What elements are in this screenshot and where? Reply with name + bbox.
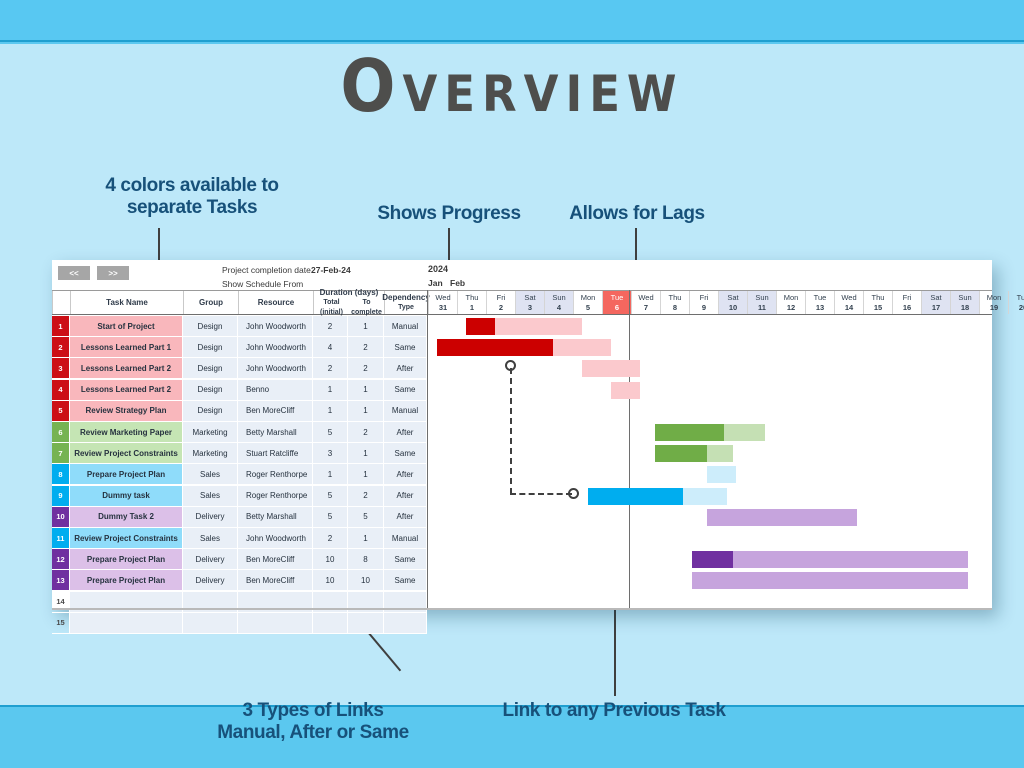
row-dependency-cell[interactable]: Same — [384, 570, 427, 591]
table-row[interactable]: 9Dummy taskSalesRoger Renthorpe52After — [52, 486, 992, 507]
row-resource-cell[interactable]: Stuart Ratcliffe — [238, 443, 313, 464]
date-header-dow: Tue — [1017, 293, 1024, 303]
date-header-cell: Fri9 — [689, 291, 718, 314]
date-header-cell: Tue6 — [602, 291, 631, 314]
row-dependency-cell[interactable]: Manual — [384, 528, 427, 549]
date-header-cell: Wed14 — [834, 291, 863, 314]
row-dependency-cell[interactable]: Same — [384, 443, 427, 464]
nav-prev-button[interactable]: << — [58, 266, 90, 280]
date-header-cell: Sat3 — [515, 291, 544, 314]
date-header-cell: Mon5 — [573, 291, 602, 314]
row-duration-total-cell[interactable]: 1 — [313, 380, 348, 401]
date-header-dow: Fri — [903, 293, 912, 303]
date-header-dow: Thu — [669, 293, 682, 303]
row-dependency-cell[interactable]: Same — [384, 337, 427, 358]
row-task-name-cell[interactable] — [70, 613, 183, 634]
column-header-duration-tocomplete: To complete — [349, 298, 384, 318]
date-header-cell: Tue13 — [805, 291, 834, 314]
row-dependency-cell[interactable]: Manual — [384, 401, 427, 422]
table-row[interactable]: 15 — [52, 613, 992, 634]
column-header-duration-total: Total (initial) — [314, 298, 349, 318]
row-duration-total-cell[interactable]: 10 — [313, 570, 348, 591]
row-id-cell[interactable]: 3 — [52, 358, 70, 379]
row-id-cell[interactable]: 15 — [52, 613, 70, 634]
date-header-daynum: 17 — [932, 303, 940, 313]
date-header-cell: Sun18 — [950, 291, 979, 314]
date-header-daynum: 14 — [845, 303, 853, 313]
row-resource-cell[interactable]: Roger Renthorpe — [238, 464, 313, 485]
annotation-links: 3 Types of Links Manual, After or Same — [182, 700, 444, 744]
row-duration-tocomplete-cell[interactable]: 10 — [348, 570, 384, 591]
row-id-cell[interactable]: 11 — [52, 528, 70, 549]
gantt-bar[interactable] — [437, 339, 611, 356]
row-group-cell[interactable]: Marketing — [183, 443, 238, 464]
date-header-dow: Sun — [755, 293, 768, 303]
row-dependency-cell[interactable]: After — [384, 422, 427, 443]
column-header-dependency[interactable]: Dependency Type — [384, 291, 427, 314]
gantt-divider-today — [629, 290, 630, 610]
show-schedule-from-label: Show Schedule From — [222, 279, 303, 289]
row-resource-cell[interactable]: John Woodworth — [238, 337, 313, 358]
date-header-cell: Tue20 — [1008, 291, 1024, 314]
date-header-dow: Wed — [638, 293, 653, 303]
gantt-bar-remaining — [724, 424, 765, 441]
row-id-cell[interactable]: 1 — [52, 316, 70, 337]
date-header-daynum: 2 — [499, 303, 503, 313]
gantt-bar-progress — [655, 424, 725, 441]
date-header-daynum: 15 — [874, 303, 882, 313]
row-resource-cell[interactable]: Betty Marshall — [238, 422, 313, 443]
row-id-cell[interactable]: 12 — [52, 549, 70, 570]
date-header-dow: Wed — [435, 293, 450, 303]
row-duration-total-cell[interactable]: 2 — [313, 528, 348, 549]
row-duration-total-cell[interactable]: 10 — [313, 549, 348, 570]
row-duration-tocomplete-cell[interactable]: 2 — [348, 486, 384, 507]
date-header-cell: Thu1 — [457, 291, 486, 314]
month-label-feb: Feb — [450, 278, 465, 288]
row-group-cell[interactable] — [183, 613, 238, 634]
table-row[interactable]: 3Lessons Learned Part 2DesignJohn Woodwo… — [52, 358, 992, 379]
date-header-daynum: 4 — [557, 303, 561, 313]
row-dependency-cell[interactable]: After — [384, 486, 427, 507]
row-duration-tocomplete-cell[interactable]: 8 — [348, 549, 384, 570]
gantt-bar[interactable] — [692, 551, 967, 568]
date-header-dow: Sat — [727, 293, 738, 303]
date-header-dow: Thu — [466, 293, 479, 303]
row-id-cell[interactable]: 10 — [52, 507, 70, 528]
row-id-cell[interactable]: 13 — [52, 570, 70, 591]
date-header-dow: Tue — [814, 293, 827, 303]
date-header-dow: Fri — [497, 293, 506, 303]
date-header-dow: Sun — [552, 293, 565, 303]
gantt-bar-remaining — [582, 360, 640, 377]
date-header-cell: Thu8 — [660, 291, 689, 314]
year-label: 2024 — [428, 264, 448, 274]
table-row[interactable]: 11Review Project ConstraintsSalesJohn Wo… — [52, 528, 992, 549]
table-row[interactable]: 5Review Strategy PlanDesignBen MoreCliff… — [52, 401, 992, 422]
date-header-dow: Sun — [958, 293, 971, 303]
row-duration-tocomplete-cell[interactable] — [348, 613, 384, 634]
row-duration-total-cell[interactable]: 5 — [313, 507, 348, 528]
column-header-duration[interactable]: Duration (days) Total (initial) To compl… — [313, 291, 384, 314]
row-resource-cell[interactable]: Ben MoreCliff — [238, 570, 313, 591]
date-header-dow: Tue — [611, 293, 624, 303]
date-header-cell: Sat10 — [718, 291, 747, 314]
date-header-dow: Mon — [784, 293, 799, 303]
date-header-daynum: 20 — [1019, 303, 1024, 313]
date-header-daynum: 10 — [729, 303, 737, 313]
gantt-divider-left — [427, 290, 428, 610]
gantt-bar[interactable] — [707, 466, 736, 483]
gantt-bar[interactable] — [692, 572, 968, 589]
row-duration-total-cell[interactable]: 1 — [313, 401, 348, 422]
table-row[interactable]: 7Review Project ConstraintsMarketingStua… — [52, 443, 992, 464]
table-row[interactable]: 6Review Marketing PaperMarketingBetty Ma… — [52, 422, 992, 443]
column-header-dependency-title: Dependency — [382, 293, 430, 303]
row-group-cell[interactable]: Delivery — [183, 570, 238, 591]
date-header-daynum: 1 — [470, 303, 474, 313]
gantt-bar[interactable] — [707, 509, 858, 526]
row-duration-tocomplete-cell[interactable]: 2 — [348, 358, 384, 379]
link-line-horizontal — [510, 493, 572, 495]
date-header-cell: Wed31 — [428, 291, 457, 314]
row-task-name-cell[interactable]: Lessons Learned Part 2 — [70, 358, 183, 379]
date-header-daynum: 31 — [439, 303, 447, 313]
row-dependency-cell[interactable]: After — [384, 358, 427, 379]
row-dependency-cell[interactable] — [384, 613, 427, 634]
link-line-vertical — [510, 368, 512, 494]
row-task-name-cell[interactable]: Lessons Learned Part 1 — [70, 337, 183, 358]
row-resource-cell[interactable]: John Woodworth — [238, 528, 313, 549]
completion-date-value[interactable]: 27-Feb-24 — [311, 265, 351, 275]
row-resource-cell[interactable]: John Woodworth — [238, 358, 313, 379]
column-header-id — [52, 291, 70, 314]
gantt-bar-remaining — [611, 382, 640, 399]
row-resource-cell[interactable] — [238, 613, 313, 634]
row-group-cell[interactable]: Sales — [183, 464, 238, 485]
gantt-bar-remaining — [733, 551, 968, 568]
column-header-task[interactable]: Task Name — [70, 291, 183, 314]
date-header-cell: Fri2 — [486, 291, 515, 314]
gantt-bar[interactable] — [582, 360, 640, 377]
date-header-daynum: 9 — [702, 303, 706, 313]
date-header-daynum: 19 — [990, 303, 998, 313]
row-task-name-cell[interactable]: Start of Project — [70, 316, 183, 337]
date-header-daynum: 11 — [758, 303, 766, 313]
date-header-cell: Wed7 — [631, 291, 660, 314]
row-resource-cell[interactable]: Roger Renthorpe — [238, 486, 313, 507]
date-header-daynum: 3 — [528, 303, 532, 313]
row-duration-total-cell[interactable] — [313, 613, 348, 634]
date-header-daynum: 6 — [615, 303, 619, 313]
date-header-daynum: 13 — [816, 303, 824, 313]
row-task-name-cell[interactable]: Review Strategy Plan — [70, 401, 183, 422]
row-dependency-cell[interactable]: Same — [384, 380, 427, 401]
nav-next-button[interactable]: >> — [97, 266, 129, 280]
row-resource-cell[interactable]: Benno — [238, 380, 313, 401]
date-header-daynum: 12 — [787, 303, 795, 313]
table-row[interactable]: 8Prepare Project PlanSalesRoger Renthorp… — [52, 464, 992, 485]
gantt-bar-progress — [466, 318, 495, 335]
row-duration-tocomplete-cell[interactable]: 5 — [348, 507, 384, 528]
gantt-bar-remaining — [495, 318, 582, 335]
gantt-bar[interactable] — [588, 488, 727, 505]
gantt-bar[interactable] — [655, 445, 733, 462]
row-duration-tocomplete-cell[interactable]: 2 — [348, 422, 384, 443]
row-id-cell[interactable]: 8 — [52, 464, 70, 485]
row-group-cell[interactable]: Design — [183, 380, 238, 401]
date-header-cell: Sun11 — [747, 291, 776, 314]
row-dependency-cell[interactable]: After — [384, 464, 427, 485]
row-duration-tocomplete-cell[interactable]: 1 — [348, 401, 384, 422]
date-header-daynum: 16 — [903, 303, 911, 313]
row-task-name-cell[interactable]: Lessons Learned Part 2 — [70, 380, 183, 401]
date-header-daynum: 5 — [586, 303, 590, 313]
row-duration-total-cell[interactable]: 5 — [313, 422, 348, 443]
date-header-cell: Mon19 — [979, 291, 1008, 314]
top-color-band — [0, 0, 1024, 42]
link-dot-row9 — [568, 488, 579, 499]
row-duration-total-cell[interactable]: 5 — [313, 486, 348, 507]
row-group-cell[interactable]: Design — [183, 337, 238, 358]
row-duration-total-cell[interactable]: 4 — [313, 337, 348, 358]
page-title: Overview — [0, 50, 1024, 122]
completion-date-label: Project completion date — [222, 265, 311, 275]
date-header-dow: Sat — [524, 293, 535, 303]
row-id-cell[interactable]: 7 — [52, 443, 70, 464]
row-dependency-cell[interactable]: Same — [384, 549, 427, 570]
row-duration-tocomplete-cell[interactable]: 1 — [348, 464, 384, 485]
date-header-dow: Sat — [930, 293, 941, 303]
gantt-bar-remaining — [553, 339, 611, 356]
row-group-cell[interactable]: Marketing — [183, 422, 238, 443]
column-header-duration-title: Duration (days) — [320, 288, 379, 298]
gantt-bar-progress — [437, 339, 553, 356]
sheet-bottom-edge — [52, 608, 992, 610]
row-task-name-cell[interactable]: Review Project Constraints — [70, 528, 183, 549]
row-task-name-cell[interactable]: Review Marketing Paper — [70, 422, 183, 443]
row-dependency-cell[interactable]: Manual — [384, 316, 427, 337]
row-task-name-cell[interactable]: Dummy task — [70, 486, 183, 507]
row-duration-total-cell[interactable]: 1 — [313, 464, 348, 485]
gantt-bar-progress — [588, 488, 684, 505]
row-duration-total-cell[interactable]: 2 — [313, 316, 348, 337]
annotation-lags: Allows for Lags — [548, 203, 726, 225]
row-id-cell[interactable]: 2 — [52, 337, 70, 358]
row-group-cell[interactable]: Delivery — [183, 507, 238, 528]
column-header-group[interactable]: Group — [183, 291, 238, 314]
row-id-cell[interactable]: 9 — [52, 486, 70, 507]
date-header-dow: Mon — [987, 293, 1002, 303]
row-group-cell[interactable]: Sales — [183, 528, 238, 549]
row-group-cell[interactable]: Design — [183, 316, 238, 337]
row-id-cell[interactable]: 5 — [52, 401, 70, 422]
date-header-cell: Thu15 — [863, 291, 892, 314]
row-resource-cell[interactable]: Ben MoreCliff — [238, 549, 313, 570]
date-header-cell: Mon12 — [776, 291, 805, 314]
row-group-cell[interactable]: Delivery — [183, 549, 238, 570]
row-duration-total-cell[interactable]: 3 — [313, 443, 348, 464]
row-group-cell[interactable]: Design — [183, 401, 238, 422]
gantt-bar[interactable] — [655, 424, 765, 441]
row-dependency-cell[interactable]: After — [384, 507, 427, 528]
annotation-colors: 4 colors available to separate Tasks — [62, 175, 322, 219]
row-duration-tocomplete-cell[interactable]: 1 — [348, 443, 384, 464]
row-duration-total-cell[interactable]: 2 — [313, 358, 348, 379]
gantt-bar-remaining — [692, 572, 968, 589]
month-label-jan: Jan — [428, 278, 443, 288]
gantt-bar[interactable] — [611, 382, 640, 399]
row-id-cell[interactable]: 6 — [52, 422, 70, 443]
row-duration-tocomplete-cell[interactable]: 1 — [348, 316, 384, 337]
date-header-cell: Sun4 — [544, 291, 573, 314]
date-header-daynum: 8 — [673, 303, 677, 313]
row-task-name-cell[interactable]: Dummy Task 2 — [70, 507, 183, 528]
row-id-cell[interactable]: 4 — [52, 380, 70, 401]
row-task-name-cell[interactable]: Review Project Constraints — [70, 443, 183, 464]
date-header-dow: Mon — [581, 293, 596, 303]
date-header-daynum: 7 — [644, 303, 648, 313]
row-resource-cell[interactable]: John Woodworth — [238, 316, 313, 337]
row-resource-cell[interactable]: Betty Marshall — [238, 507, 313, 528]
date-header-daynum: 18 — [961, 303, 969, 313]
date-header-dow: Wed — [841, 293, 856, 303]
table-row[interactable]: 4Lessons Learned Part 2DesignBenno11Same — [52, 380, 992, 401]
gantt-bar-remaining — [707, 509, 858, 526]
date-header-cell: Sat17 — [921, 291, 950, 314]
date-header-dow: Fri — [700, 293, 709, 303]
gantt-bar-progress — [655, 445, 707, 462]
row-task-name-cell[interactable]: Prepare Project Plan — [70, 464, 183, 485]
annotation-previous-task: Link to any Previous Task — [468, 700, 760, 722]
row-resource-cell[interactable]: Ben MoreCliff — [238, 401, 313, 422]
row-task-name-cell[interactable]: Prepare Project Plan — [70, 549, 183, 570]
column-header-dependency-type: Type — [398, 303, 414, 313]
gantt-bar-remaining — [707, 445, 733, 462]
row-group-cell[interactable]: Sales — [183, 486, 238, 507]
gantt-bar-progress — [692, 551, 733, 568]
gantt-bar[interactable] — [466, 318, 582, 335]
annotation-progress: Shows Progress — [356, 203, 542, 225]
date-header-cell: Fri16 — [892, 291, 921, 314]
gantt-bar-remaining — [707, 466, 736, 483]
row-task-name-cell[interactable]: Prepare Project Plan — [70, 570, 183, 591]
gantt-bar-remaining — [683, 488, 727, 505]
date-header-dow: Thu — [872, 293, 885, 303]
row-duration-tocomplete-cell[interactable]: 1 — [348, 380, 384, 401]
row-duration-tocomplete-cell[interactable]: 2 — [348, 337, 384, 358]
column-header-resource[interactable]: Resource — [238, 291, 313, 314]
row-duration-tocomplete-cell[interactable]: 1 — [348, 528, 384, 549]
row-group-cell[interactable]: Design — [183, 358, 238, 379]
